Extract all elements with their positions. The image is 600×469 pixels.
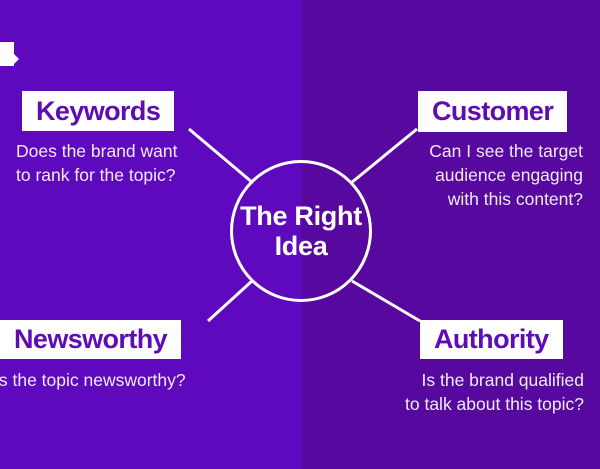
center-node-label: The Right Idea [233, 201, 369, 261]
slide-canvas: The Right Idea Keywords Does the brand w… [0, 0, 600, 469]
node-label-keywords[interactable]: Keywords [22, 91, 174, 131]
connector-newsworthy [208, 281, 252, 321]
node-description-keywords: Does the brand want to rank for the topi… [16, 139, 178, 187]
center-node-circle: The Right Idea [230, 160, 372, 302]
node-label-newsworthy[interactable]: Newsworthy [0, 320, 181, 359]
node-description-newsworthy: Is the topic newsworthy? [0, 368, 186, 392]
node-label-authority[interactable]: Authority [420, 320, 563, 359]
node-description-authority: Is the brand qualified to talk about thi… [378, 368, 584, 416]
connector-authority [352, 281, 420, 321]
connector-keywords [189, 129, 253, 183]
node-description-customer: Can I see the target audience engaging w… [376, 139, 583, 211]
node-label-customer[interactable]: Customer [418, 91, 567, 132]
